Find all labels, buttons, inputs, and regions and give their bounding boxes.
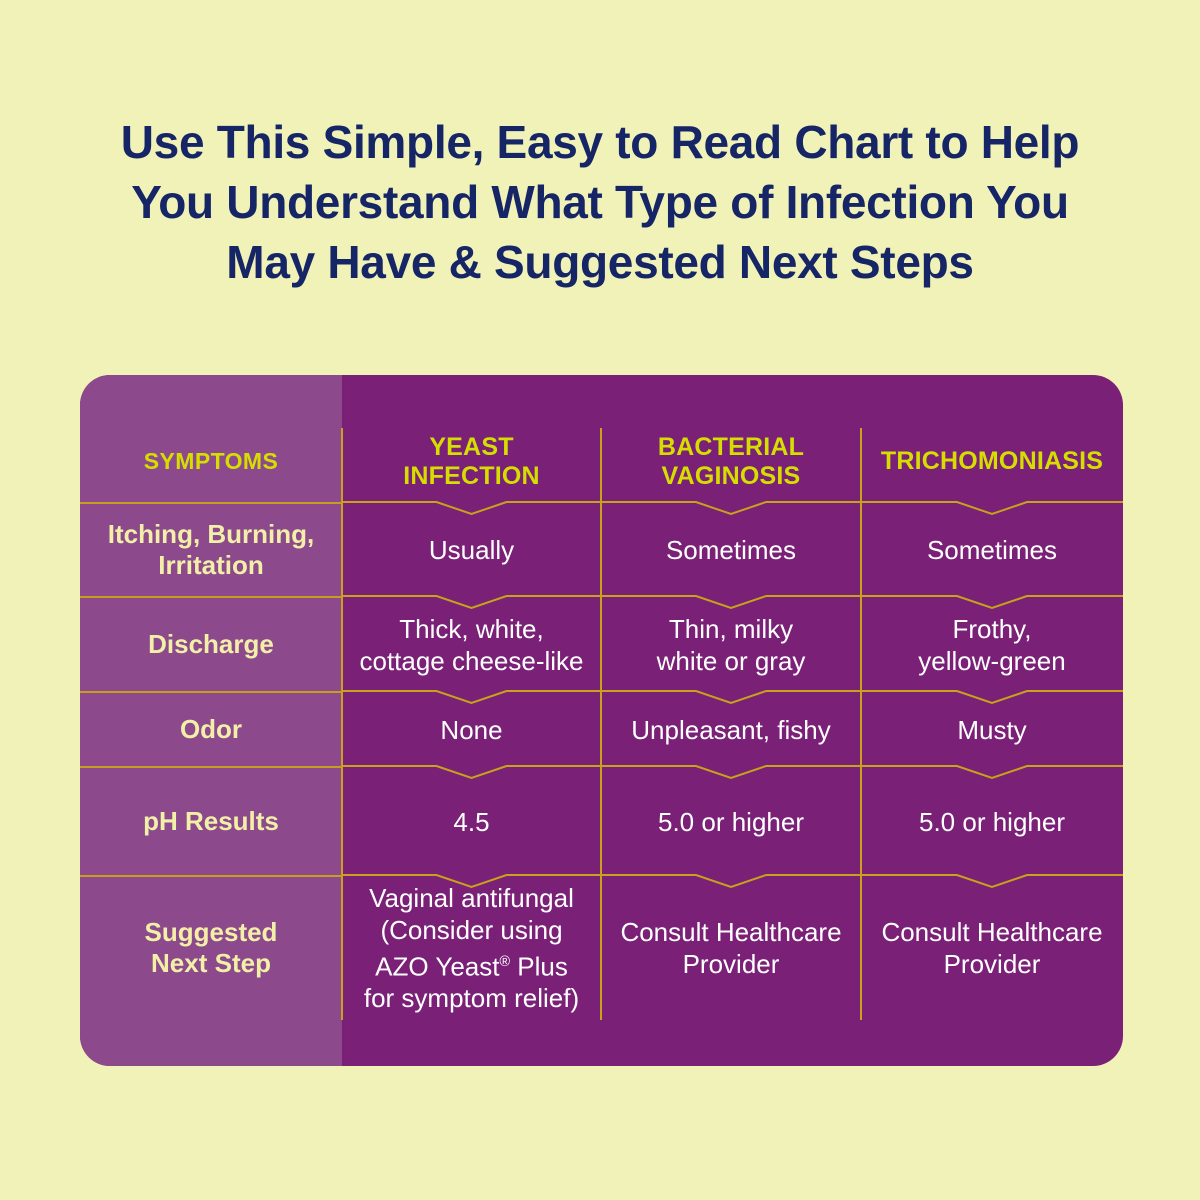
column-header-symptoms-text: SYMPTOMS [144, 448, 278, 475]
cell-ph-results-yeast-infection-text: 4.5 [453, 806, 489, 838]
row-divider-sidebar-0 [80, 502, 342, 504]
row-divider-1-col-2 [601, 595, 861, 613]
row-label-odor: Odor [80, 692, 342, 767]
row-divider-2-col-3 [861, 690, 1123, 708]
cell-discharge-bacterial-vaginosis-text: Thin, milkywhite or gray [657, 613, 806, 677]
column-header-trichomoniasis: TRICHOMONIASIS [861, 420, 1123, 503]
cell-ph-results-trichomoniasis: 5.0 or higher [861, 767, 1123, 876]
cell-odor-trichomoniasis-text: Musty [957, 714, 1026, 746]
cell-suggested-next-step-yeast-infection: Vaginal antifungal(Consider usingAZO Yea… [342, 876, 601, 1020]
cell-ph-results-bacterial-vaginosis-text: 5.0 or higher [658, 806, 804, 838]
column-header-symptoms: SYMPTOMS [80, 420, 342, 503]
row-label-ph-results: pH Results [80, 767, 342, 876]
row-label-ph-results-text: pH Results [143, 806, 279, 837]
row-divider-0-col-3 [861, 501, 1123, 519]
row-divider-0-col-1 [342, 501, 601, 519]
cell-odor-yeast-infection-text: None [440, 714, 502, 746]
chart-grid: SYMPTOMSYEASTINFECTIONBACTERIALVAGINOSIS… [80, 375, 1123, 1066]
row-label-odor-text: Odor [180, 714, 242, 745]
row-divider-0-col-2 [601, 501, 861, 519]
cell-itching-burning-irritation-yeast-infection-text: Usually [429, 534, 514, 566]
cell-itching-burning-irritation-trichomoniasis-text: Sometimes [927, 534, 1057, 566]
cell-discharge-trichomoniasis-text: Frothy,yellow-green [918, 613, 1065, 677]
row-label-discharge-text: Discharge [148, 629, 274, 660]
cell-ph-results-yeast-infection: 4.5 [342, 767, 601, 876]
row-label-itching-burning-irritation-text: Itching, Burning,Irritation [108, 519, 315, 581]
row-divider-2-col-2 [601, 690, 861, 708]
row-divider-sidebar-2 [80, 691, 342, 693]
row-label-discharge: Discharge [80, 597, 342, 692]
row-divider-sidebar-4 [80, 875, 342, 877]
page-title-line-1: Use This Simple, Easy to Read Chart to H… [65, 112, 1135, 172]
cell-suggested-next-step-trichomoniasis: Consult HealthcareProvider [861, 876, 1123, 1020]
cell-ph-results-bacterial-vaginosis: 5.0 or higher [601, 767, 861, 876]
row-divider-4-col-1 [342, 874, 601, 892]
page-title-line-3: May Have & Suggested Next Steps [65, 232, 1135, 292]
row-label-itching-burning-irritation: Itching, Burning,Irritation [80, 503, 342, 597]
cell-itching-burning-irritation-bacterial-vaginosis-text: Sometimes [666, 534, 796, 566]
row-divider-sidebar-1 [80, 596, 342, 598]
cell-suggested-next-step-trichomoniasis-text: Consult HealthcareProvider [881, 916, 1102, 980]
row-divider-1-col-1 [342, 595, 601, 613]
cell-suggested-next-step-yeast-infection-text: Vaginal antifungal(Consider usingAZO Yea… [364, 882, 579, 1015]
column-header-bacterial-vaginosis-text: BACTERIALVAGINOSIS [658, 433, 804, 491]
symptom-comparison-chart: SYMPTOMSYEASTINFECTIONBACTERIALVAGINOSIS… [80, 375, 1123, 1066]
row-divider-3-col-2 [601, 765, 861, 783]
cell-ph-results-trichomoniasis-text: 5.0 or higher [919, 806, 1065, 838]
column-header-trichomoniasis-text: TRICHOMONIASIS [881, 447, 1103, 476]
page-title-line-2: You Understand What Type of Infection Yo… [65, 172, 1135, 232]
cell-odor-bacterial-vaginosis-text: Unpleasant, fishy [631, 714, 830, 746]
row-divider-sidebar-3 [80, 766, 342, 768]
column-header-bacterial-vaginosis: BACTERIALVAGINOSIS [601, 420, 861, 503]
row-label-suggested-next-step: SuggestedNext Step [80, 876, 342, 1020]
page-title: Use This Simple, Easy to Read Chart to H… [65, 0, 1135, 292]
cell-suggested-next-step-bacterial-vaginosis-text: Consult HealthcareProvider [620, 916, 841, 980]
row-divider-3-col-1 [342, 765, 601, 783]
cell-discharge-yeast-infection-text: Thick, white,cottage cheese-like [359, 613, 583, 677]
row-label-suggested-next-step-text: SuggestedNext Step [145, 917, 278, 979]
column-header-yeast-infection-text: YEASTINFECTION [403, 433, 540, 491]
row-divider-1-col-3 [861, 595, 1123, 613]
row-divider-4-col-3 [861, 874, 1123, 892]
column-header-yeast-infection: YEASTINFECTION [342, 420, 601, 503]
row-divider-2-col-1 [342, 690, 601, 708]
row-divider-4-col-2 [601, 874, 861, 892]
row-divider-3-col-3 [861, 765, 1123, 783]
cell-suggested-next-step-bacterial-vaginosis: Consult HealthcareProvider [601, 876, 861, 1020]
